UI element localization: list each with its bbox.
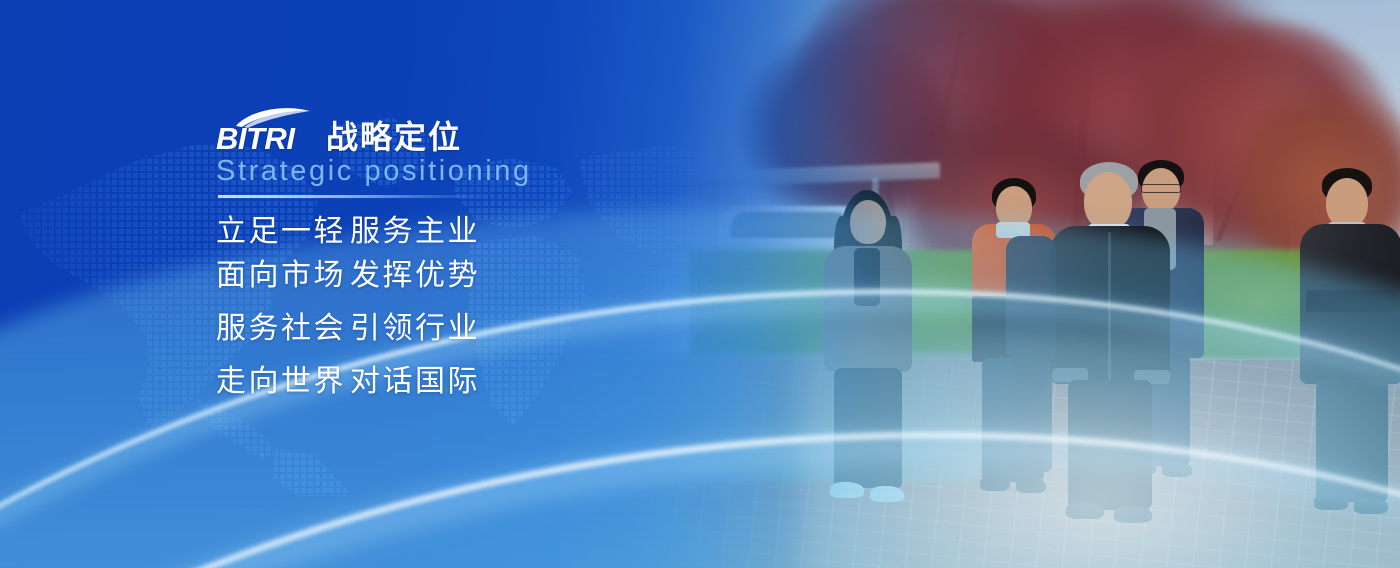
title-divider (218, 195, 490, 198)
slogan-row: 走向世界 对话国际 (216, 356, 480, 400)
slogan-left: 面向市场 (216, 250, 350, 294)
slogan-row: 面向市场 发挥优势 (216, 250, 480, 294)
page-subtitle-en: Strategic positioning (216, 156, 532, 188)
slogan-right: 服务主业 (350, 206, 480, 250)
strategic-positioning-banner: BITRI 战略定位 Strategic positioning 立足一轻 服务… (0, 0, 1400, 568)
bitri-logo: BITRI (216, 108, 312, 154)
slogan-right: 发挥优势 (350, 250, 480, 294)
slogan-row: 服务社会 引领行业 (216, 303, 480, 347)
arc-right-highlight (800, 330, 1400, 568)
banner-content: BITRI 战略定位 Strategic positioning 立足一轻 服务… (0, 0, 700, 568)
slogan-row: 立足一轻 服务主业 (216, 206, 480, 250)
brand-title-row: BITRI 战略定位 (216, 108, 462, 154)
slogan-list: 立足一轻 服务主业 面向市场 发挥优势 服务社会 引领行业 走向世界 对话国际 (216, 206, 480, 400)
slogan-left: 服务社会 (216, 303, 350, 347)
bitri-logo-text: BITRI (216, 123, 294, 154)
slogan-right: 对话国际 (350, 356, 480, 400)
slogan-left: 立足一轻 (216, 206, 350, 250)
slogan-right: 引领行业 (350, 303, 480, 347)
slogan-left: 走向世界 (216, 356, 350, 400)
page-title-cn: 战略定位 (326, 121, 462, 154)
